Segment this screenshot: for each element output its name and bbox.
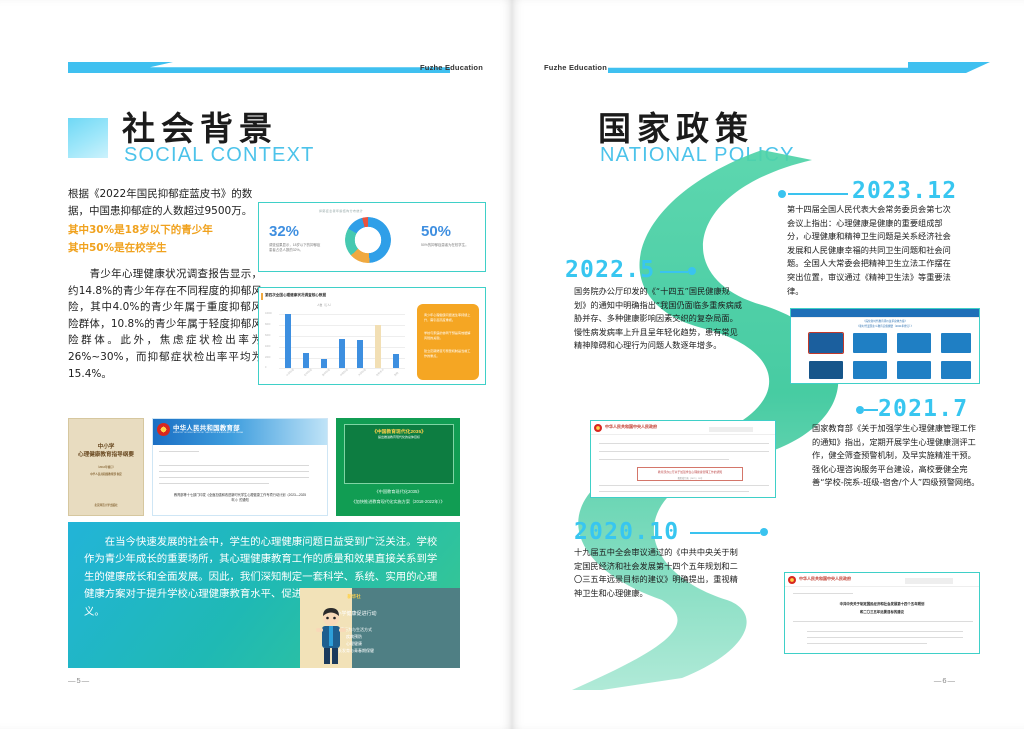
moe-plan-title-1: 《深化新时代教育评价改革总体方案》 — [791, 319, 979, 323]
timeline-line-2022 — [660, 271, 688, 273]
gov-emblem-icon-2 — [788, 576, 796, 584]
bar-chart-plot: 人数（万人） 100008000 60004000 20000 小学阶段 初中阶… — [265, 304, 407, 380]
timeline-dot-2021 — [856, 406, 864, 414]
stat-32-note: 调查结果显示，18岁以下的抑郁症患者占总人数的32%。 — [269, 243, 321, 252]
bar-note-line-2: 学校与家庭的协同干预是有效缓解风险的关键。 — [424, 331, 472, 340]
timeline-year-2020: 2020.10 — [574, 519, 679, 545]
moe-doc-title: 教育部等十七部门印发《全面加强和改进新时代学生心理健康工作专项行动计划（2023… — [153, 493, 327, 503]
bar-chart-ylabel: 人数（万人） — [317, 303, 333, 307]
notice-doc-title: 教育部办公厅关于加强学生心理健康管理工作的通知 — [638, 470, 742, 474]
stat-50-value: 50% — [421, 223, 451, 240]
right-header-label: Fuzhe Education — [544, 63, 607, 72]
donut-legend: 抑郁症患者年龄结构分布统计 — [319, 209, 363, 213]
stat-50-note: 50%的抑郁症患者为在校学生。 — [421, 243, 473, 248]
right-page: Fuzhe Education 国家政策 NATIONAL POLICY 202… — [512, 0, 1024, 729]
book-subtitle: （2012年修订） — [69, 465, 143, 469]
timeline-year-2023: 2023.12 — [852, 178, 957, 204]
timeline-dot-2020 — [760, 528, 768, 536]
timeline-dot-2022 — [688, 267, 696, 275]
timeline-text-2021: 国家教育部《关于加强学生心理健康管理工作的通知》指出，定期开展学生心理健康测评工… — [812, 422, 980, 490]
left-header-bar — [68, 62, 450, 73]
book-press: 北京师范大学出版社 — [69, 503, 143, 507]
poster-caption-1: 《中国教育现代化2035》 — [336, 488, 460, 495]
image-guideline-book: 中小学 心理健康教育指导纲要 （2012年修订） 中华人民共和国教育部 制定 北… — [68, 418, 144, 516]
left-highlight-1: 其中30%是18岁以下的青少年 — [68, 222, 268, 239]
timeline-line-2020 — [690, 532, 760, 534]
child-illustration-icon — [314, 608, 348, 664]
proposal-title-1: 中共中央关于制定国民经济和社会发展第十四个五年规划 — [785, 601, 979, 606]
donut-stat-card: 抑郁症患者年龄结构分布统计 32% 调查结果显示，18岁以下的抑郁症患者占总人数… — [258, 202, 486, 272]
poster-caption-2: 《加快推进教育现代化实施方案（2018-2022年）》 — [336, 498, 460, 505]
timeline-year-2021: 2021.7 — [878, 396, 968, 422]
book-title: 中小学 心理健康教育指导纲要 — [69, 443, 143, 459]
left-page: Fuzhe Education 社会背景 SOCIAL CONTEXT 根据《2… — [0, 0, 512, 729]
timeline-line-2021 — [864, 409, 878, 411]
bar-chart-note: 青少年心理健康问题发生率持续上升，需引起高度重视。 学校与家庭的协同干预是有效缓… — [417, 304, 479, 380]
left-page-number: —5— — [68, 676, 90, 685]
left-title-square — [68, 118, 108, 158]
timeline-text-2020: 十九届五中全会审议通过的《中共中央关于制定国民经济和社会发展第十四个五年规划和二… — [574, 546, 742, 600]
proposal-title-2: 和二〇三五年远景目标的建议 — [785, 609, 979, 614]
screenshot-gov-notice: 中华人民共和国中央人民政府 教育部办公厅关于加强学生心理健康管理工作的通知 教思… — [590, 420, 776, 498]
timeline-text-2023: 第十四届全国人民代表大会常务委员会第七次会议上指出：心理健康是健康的重要组成部分… — [787, 203, 955, 298]
notice-doc-sub: 教思政厅函〔2021〕10号 — [638, 476, 742, 480]
screenshot-moe-action-plan: 《深化新时代教育评价改革总体方案》 《新时代爱国主义教育实施纲要（2021年修订… — [790, 308, 980, 384]
timeline-line-2023 — [788, 193, 848, 195]
right-header-bar — [608, 62, 990, 73]
left-highlight-2: 其中50%是在校学生 — [68, 240, 268, 257]
gov-site-name-proposal: 中华人民共和国中央人民政府 — [799, 576, 851, 582]
left-paragraph-1: 根据《2022年国民抑郁症蓝皮书》的数据，中国患抑郁症的人数超过9500万。 — [68, 186, 258, 219]
bar-chart-card: 第四次全国心理健康状况调查核心数据 人数（万人） 100008000 60004… — [258, 287, 486, 385]
bar-note-line-1: 青少年心理健康问题发生率持续上升，需引起高度重视。 — [424, 313, 472, 322]
promo-brand: 新华社 — [300, 594, 408, 600]
left-header-label: Fuzhe Education — [420, 63, 483, 72]
timeline-dot-2023 — [778, 190, 786, 198]
stat-32-value: 32% — [269, 223, 299, 240]
national-emblem-icon — [157, 423, 170, 436]
brochure-spread: Fuzhe Education 社会背景 SOCIAL CONTEXT 根据《2… — [0, 0, 1024, 729]
timeline-text-2022: 国务院办公厅印发的《“十四五”国民健康规划》的通知中明确指出“我国仍面临多重疾病… — [574, 285, 742, 353]
gov-emblem-icon — [594, 424, 602, 432]
left-title-en: SOCIAL CONTEXT — [124, 144, 315, 167]
highlight-box: 教育部办公厅关于加强学生心理健康管理工作的通知 教思政厅函〔2021〕10号 — [637, 467, 743, 481]
moe-site-name: 中华人民共和国教育部 MINISTRY OF EDUCATION OF THE … — [173, 423, 243, 434]
image-edu-modernization-poster: 《中国教育现代化2035》 提出推进教育现代化的总体目标 《中国教育现代化203… — [336, 418, 460, 516]
poster-board: 《中国教育现代化2035》 提出推进教育现代化的总体目标 — [344, 424, 454, 484]
right-page-number: —6— — [934, 676, 956, 685]
image-health-promotion-poster: 新华社 中小学健康促进行动 健康行为与生活方式 疾病预防 心理健康 生长发育与青… — [300, 588, 460, 668]
bar-chart-heading: 第四次全国心理健康状况调查核心数据 — [265, 293, 326, 298]
bar-note-line-3: 建立定期筛查与预警机制是当前工作的重点。 — [424, 349, 472, 358]
screenshot-gov-proposal: 中华人民共和国中央人民政府 中共中央关于制定国民经济和社会发展第十四个五年规划 … — [784, 572, 980, 654]
moe-plan-title-2: 《新时代爱国主义教育实施纲要（2021年修订）》 — [791, 324, 979, 328]
gov-site-name-notice: 中华人民共和国中央人民政府 — [605, 424, 657, 430]
poster-title: 《中国教育现代化2035》 提出推进教育现代化的总体目标 — [345, 428, 453, 439]
book-publisher-dept: 中华人民共和国教育部 制定 — [69, 472, 143, 476]
left-paragraph-2: 青少年心理健康状况调查报告显示，约14.8%的青少年存在不同程度的抑郁风险，其中… — [68, 266, 262, 382]
image-moe-website: 中华人民共和国教育部 MINISTRY OF EDUCATION OF THE … — [152, 418, 328, 516]
donut-chart — [345, 217, 391, 263]
left-title-cn: 社会背景 — [122, 102, 278, 150]
timeline-year-2022: 2022.5 — [565, 257, 655, 283]
